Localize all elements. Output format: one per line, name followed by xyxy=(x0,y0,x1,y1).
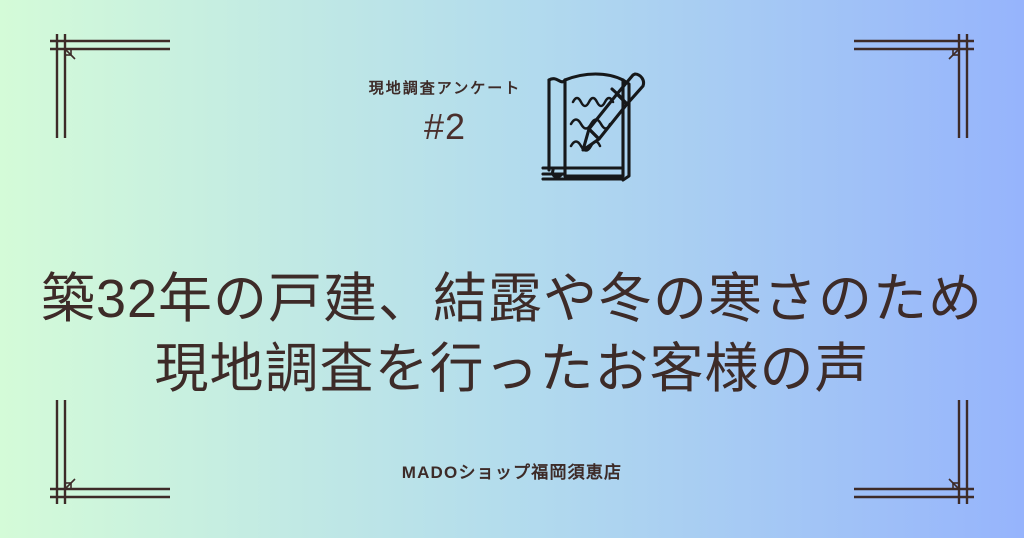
header-label-group: 現地調査アンケート #2 xyxy=(369,58,521,147)
notebook-with-pen-icon xyxy=(527,58,655,186)
issue-number: #2 xyxy=(424,106,466,147)
header-cluster: 現地調査アンケート #2 xyxy=(0,58,1024,186)
title-card: 現地調査アンケート #2 xyxy=(0,0,1024,538)
shop-name: MADOショップ福岡須恵店 xyxy=(0,458,1024,483)
survey-label: 現地調査アンケート xyxy=(369,80,521,98)
page-title: 築32年の戸建、結露や冬の寒さのため 現地調査を行ったお客様の声 xyxy=(0,264,1024,404)
